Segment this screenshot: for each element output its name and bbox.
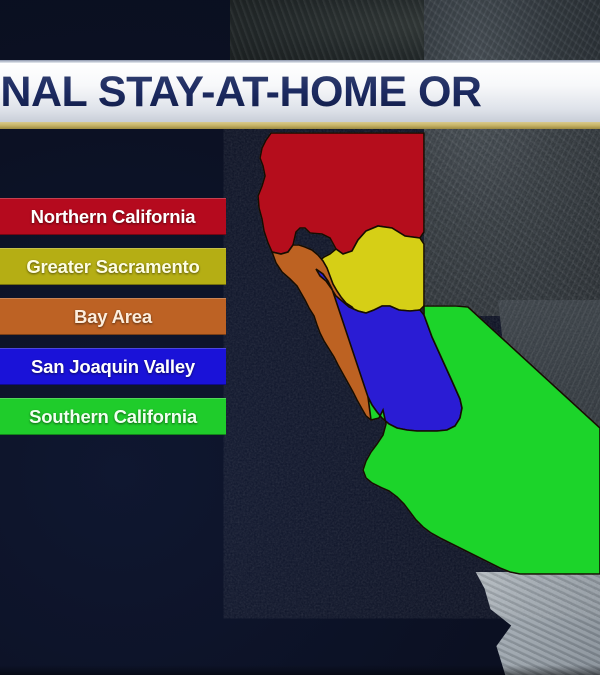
legend-item-greater-sacramento[interactable]: Greater Sacramento (0, 248, 226, 285)
legend-item-san-joaquin-valley[interactable]: San Joaquin Valley (0, 348, 226, 385)
banner-title: IONAL STAY-AT-HOME OR (0, 71, 481, 114)
legend-label-southern-california: Southern California (29, 406, 197, 428)
broadcast-map-graphic: IONAL STAY-AT-HOME OR Northern Californi… (0, 0, 600, 675)
legend-label-greater-sacramento: Greater Sacramento (26, 256, 199, 278)
legend-label-bay-area: Bay Area (74, 306, 152, 328)
legend-item-bay-area[interactable]: Bay Area (0, 298, 226, 335)
banner-accent-stripe (0, 122, 600, 129)
legend-item-southern-california[interactable]: Southern California (0, 398, 226, 435)
title-banner: IONAL STAY-AT-HOME OR (0, 63, 600, 122)
bottom-vignette (0, 665, 600, 675)
legend-label-northern-california: Northern California (31, 206, 196, 228)
legend-label-san-joaquin-valley: San Joaquin Valley (31, 356, 195, 378)
legend-item-northern-california[interactable]: Northern California (0, 198, 226, 235)
region-legend: Northern California Greater Sacramento B… (0, 198, 226, 435)
